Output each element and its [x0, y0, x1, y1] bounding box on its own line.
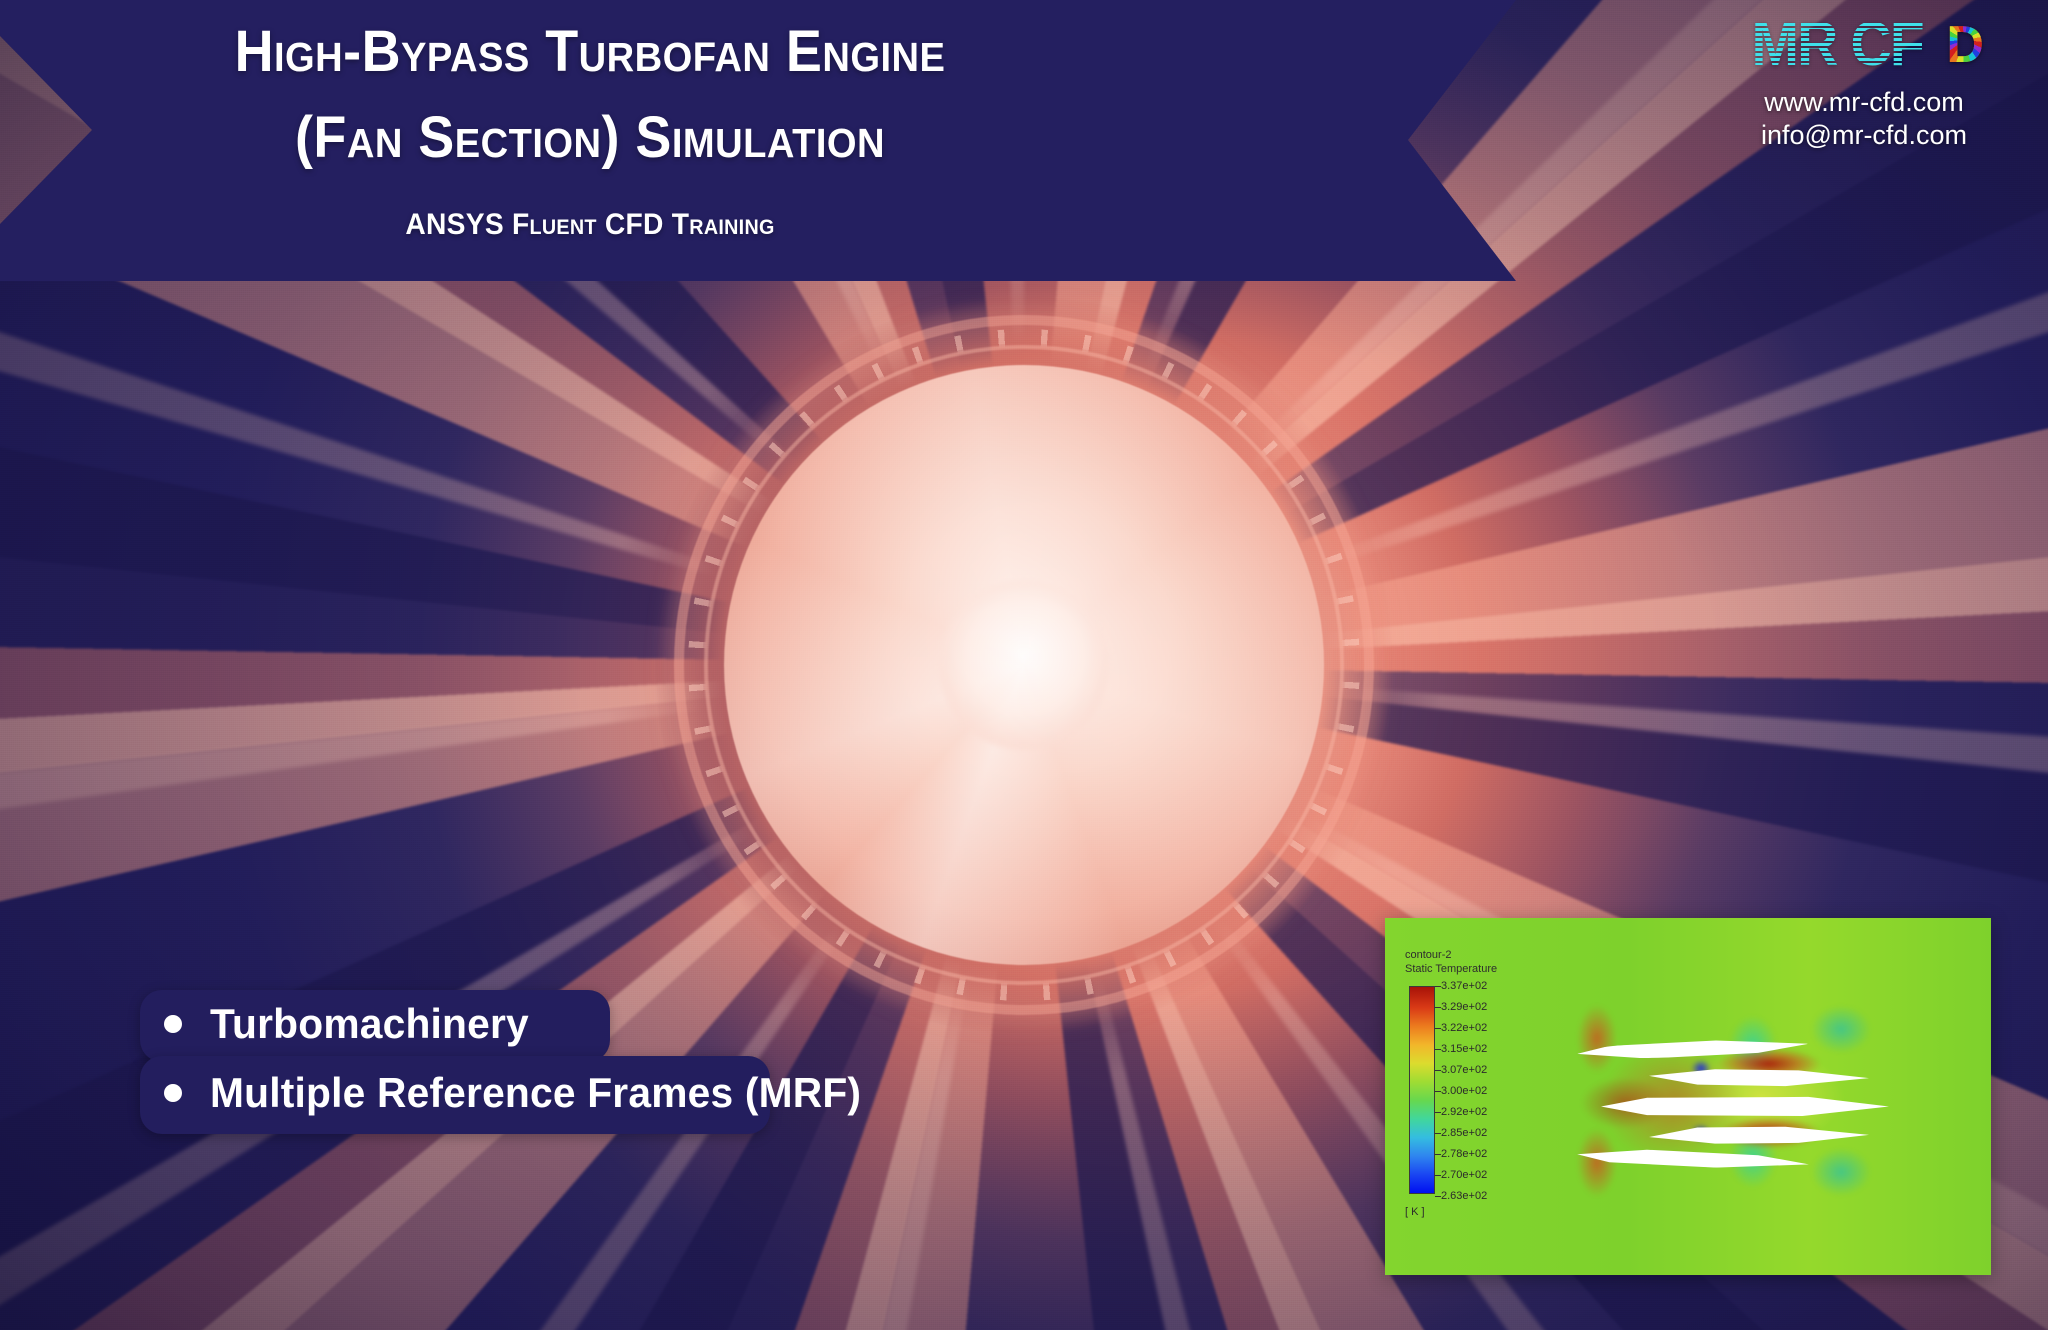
list-item: Multiple Reference Frames (MRF)	[140, 1056, 770, 1134]
legend-subtitle: Static Temperature	[1405, 962, 1565, 976]
colorbar-tick: 3.22e+02	[1441, 1022, 1487, 1034]
colorbar-tick: 3.29e+02	[1441, 1001, 1487, 1013]
bullet-label: Multiple Reference Frames (MRF)	[210, 1069, 861, 1117]
blade-cascade-plot	[1561, 988, 1961, 1218]
bullet-dot-icon	[164, 1084, 182, 1102]
list-item: Turbomachinery	[140, 990, 610, 1062]
header-inner: High-Bypass Turbofan Engine (Fan Section…	[0, 0, 1516, 281]
title-line-2: (Fan Section) Simulation	[41, 102, 1138, 174]
legend-unit-label: [ K ]	[1405, 1206, 1565, 1218]
logo-wordmark: MR CF	[1752, 14, 1923, 76]
page-subtitle: ANSYS Fluent CFD Training	[35, 208, 1144, 242]
colorbar-tick: 2.85e+02	[1441, 1127, 1487, 1139]
contour-legend: contour-2 Static Temperature 3.37e+02 3.…	[1405, 948, 1565, 1218]
logo-contour-d-icon: D	[1946, 14, 1984, 76]
bullet-label: Turbomachinery	[210, 1000, 529, 1048]
colorbar-tick: 3.37e+02	[1441, 980, 1487, 992]
colorbar-tick: 3.00e+02	[1441, 1085, 1487, 1097]
poster-canvas: High-Bypass Turbofan Engine (Fan Section…	[0, 0, 2048, 1330]
cfd-contour-inset: contour-2 Static Temperature 3.37e+02 3.…	[1385, 918, 1991, 1275]
header-banner: High-Bypass Turbofan Engine (Fan Section…	[0, 0, 1516, 281]
brand-logo[interactable]: MR CF D www.mr-cfd.com info@mr-cfd.com	[1714, 14, 2014, 152]
title-line-1: High-Bypass Turbofan Engine	[235, 19, 946, 84]
logo-email-link[interactable]: info@mr-cfd.com	[1714, 119, 2014, 152]
colorbar	[1409, 986, 1435, 1194]
colorbar-tick: 2.63e+02	[1441, 1190, 1487, 1202]
page-title: High-Bypass Turbofan Engine (Fan Section…	[41, 16, 1138, 174]
bullet-dot-icon	[164, 1015, 182, 1033]
legend-title: contour-2	[1405, 948, 1565, 962]
colorbar-tick: 2.92e+02	[1441, 1106, 1487, 1118]
legend-body: 3.37e+02 3.29e+02 3.22e+02 3.15e+02 3.07…	[1405, 986, 1565, 1194]
colorbar-ticks: 3.37e+02 3.29e+02 3.22e+02 3.15e+02 3.07…	[1441, 980, 1561, 1200]
colorbar-tick: 2.70e+02	[1441, 1169, 1487, 1181]
feature-bullet-list: Turbomachinery Multiple Reference Frames…	[140, 990, 770, 1134]
colorbar-tick: 3.07e+02	[1441, 1064, 1487, 1076]
colorbar-tick: 2.78e+02	[1441, 1148, 1487, 1160]
colorbar-tick: 3.15e+02	[1441, 1043, 1487, 1055]
logo-website-link[interactable]: www.mr-cfd.com	[1714, 86, 2014, 119]
logo-mark: MR CF D	[1714, 14, 2014, 86]
